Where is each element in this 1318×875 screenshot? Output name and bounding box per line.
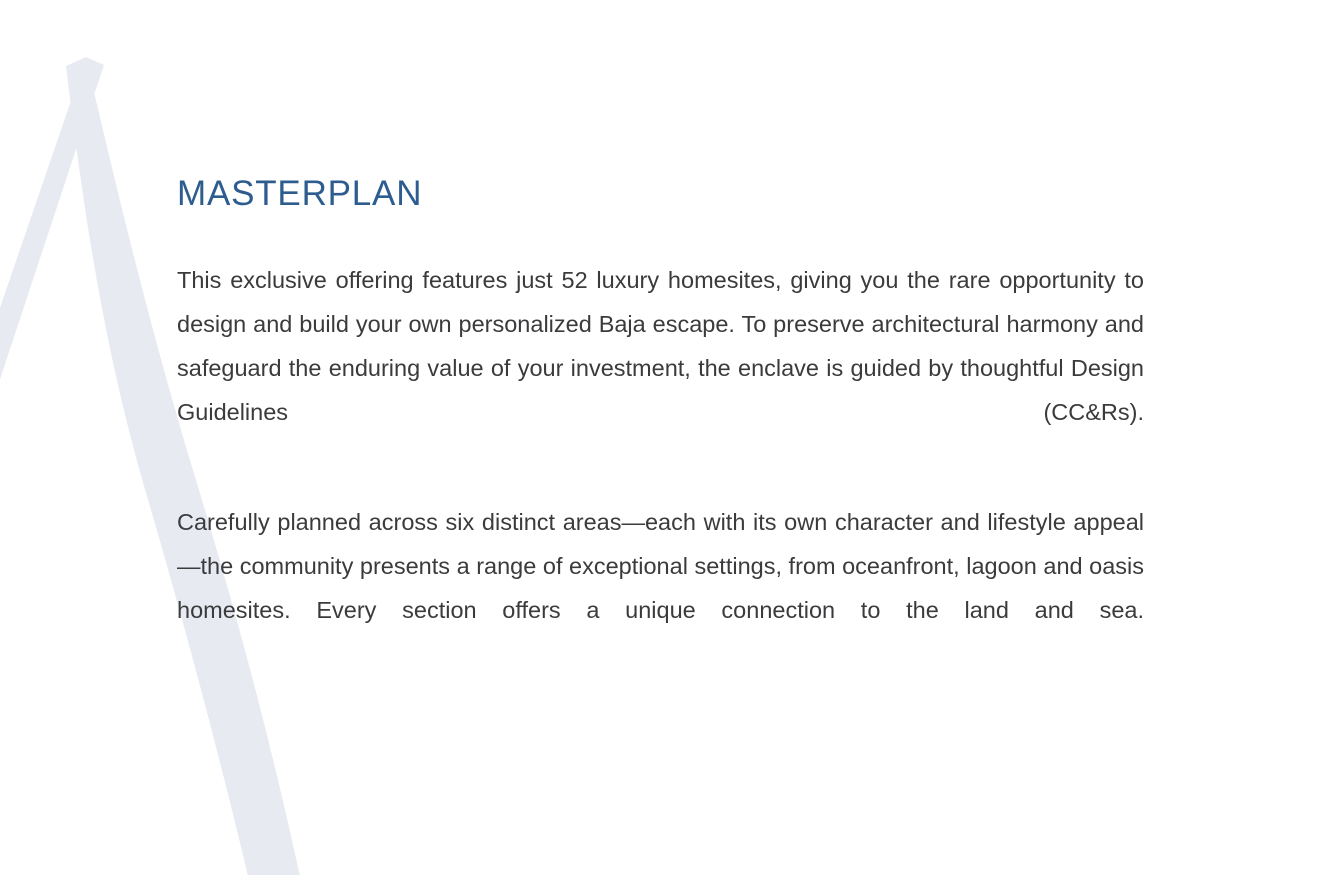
body-copy: This exclusive offering features just 52… xyxy=(177,258,1144,676)
document-page: MASTERPLAN This exclusive offering featu… xyxy=(0,0,1318,875)
page-title: MASTERPLAN xyxy=(177,172,422,216)
paragraph-2: Carefully planned across six distinct ar… xyxy=(177,500,1144,676)
chevron-left-stroke xyxy=(0,57,104,470)
paragraph-1: This exclusive offering features just 52… xyxy=(177,258,1144,478)
